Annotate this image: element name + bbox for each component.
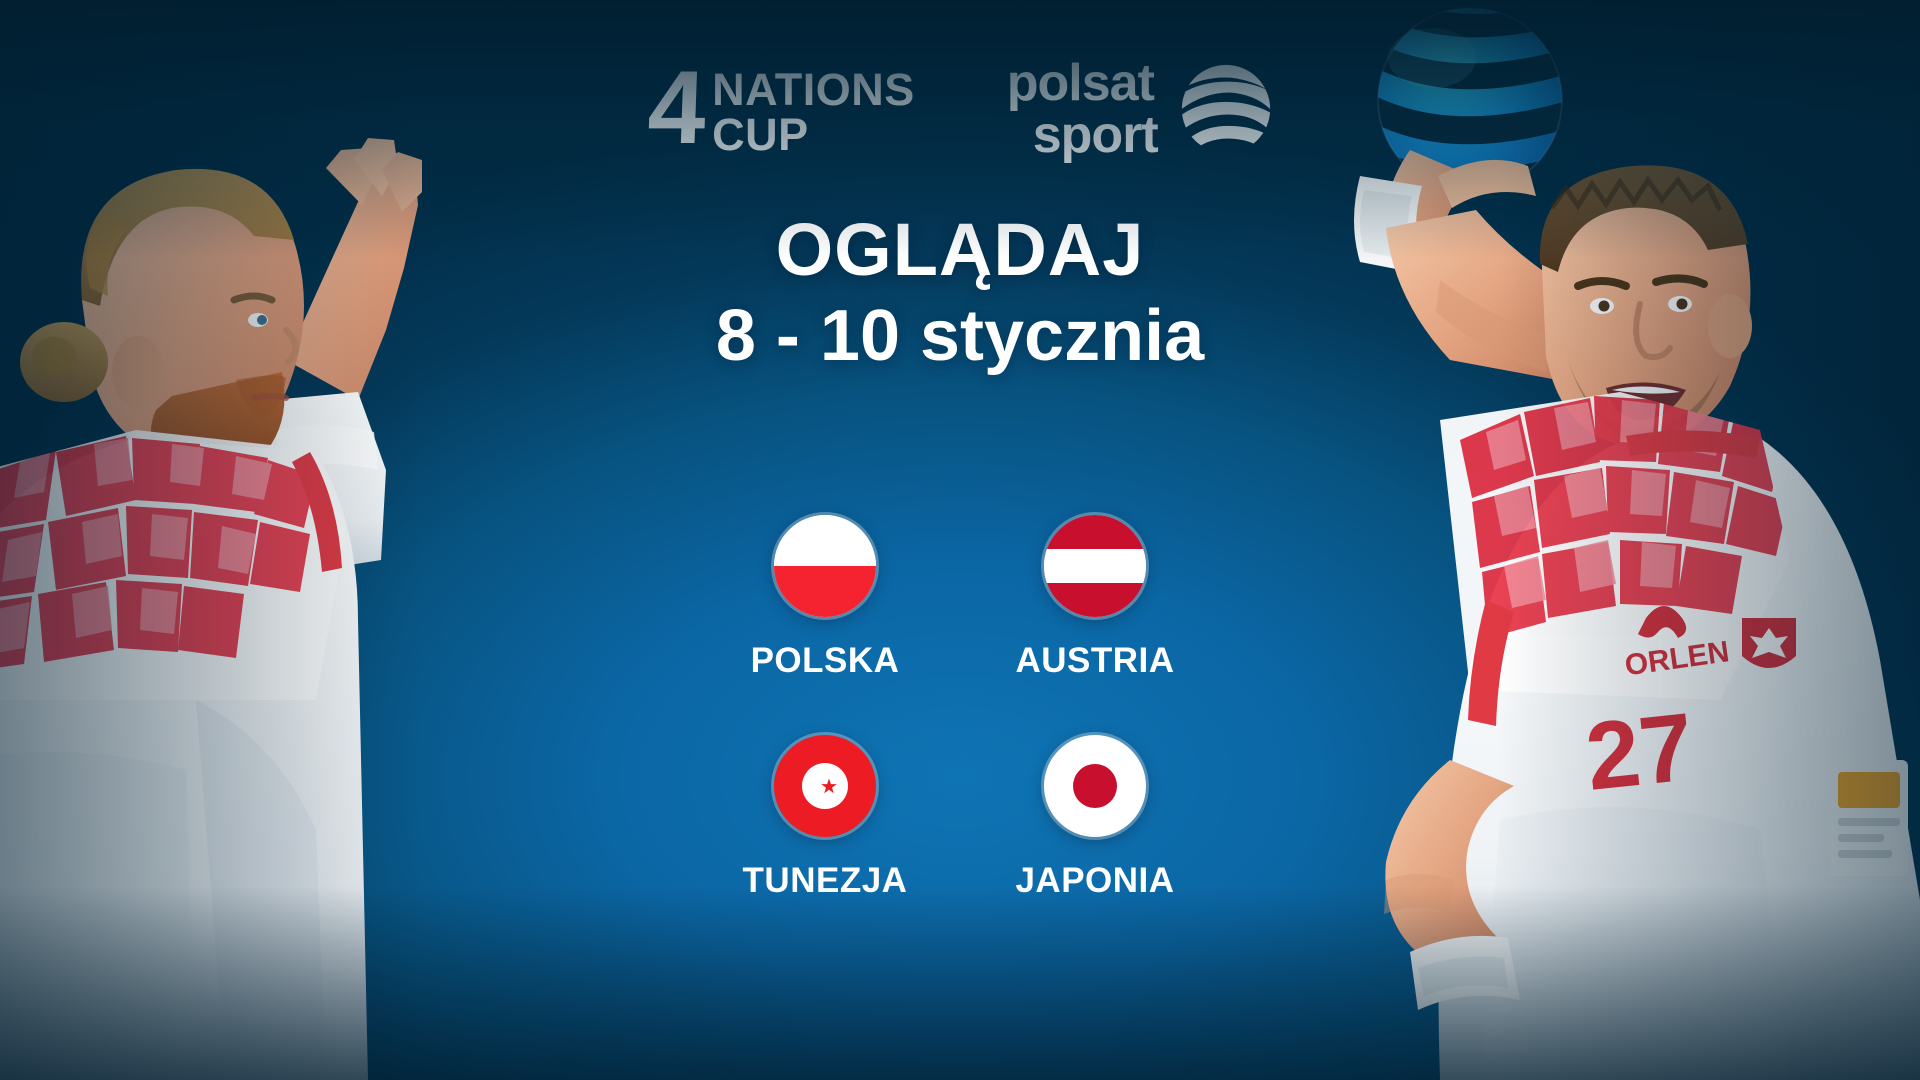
flag-austria-icon bbox=[1044, 515, 1146, 617]
team-poland: POLSKA bbox=[751, 515, 900, 681]
flag-japan-icon bbox=[1044, 735, 1146, 837]
flag-band-red-bottom bbox=[1044, 583, 1146, 617]
four-nations-cup-logo: 4 NATIONS CUP bbox=[648, 62, 915, 156]
svg-text:27: 27 bbox=[1581, 693, 1698, 811]
team-tunisia: TUNEZJA bbox=[743, 735, 908, 901]
team-label-poland: POLSKA bbox=[751, 641, 900, 681]
sport-wordmark: sport bbox=[1007, 109, 1158, 161]
cup-logo-cup: CUP bbox=[712, 112, 915, 157]
team-austria: AUSTRIA bbox=[1015, 515, 1174, 681]
polsat-sport-logo: polsat sport bbox=[1007, 58, 1272, 161]
player-left-image bbox=[0, 0, 546, 1080]
page-title: OGLĄDAJ bbox=[0, 212, 1920, 287]
cup-logo-nations: NATIONS bbox=[712, 68, 915, 111]
player-right-image: ORLEN 27 bbox=[1290, 0, 1920, 1080]
teams-grid: POLSKA AUSTRIA TUNEZJA bbox=[690, 515, 1230, 901]
team-japan: JAPONIA bbox=[1015, 735, 1174, 901]
headline-block: OGLĄDAJ 8 - 10 stycznia bbox=[0, 212, 1920, 379]
flag-tunisia-icon bbox=[774, 735, 876, 837]
team-label-austria: AUSTRIA bbox=[1015, 641, 1174, 681]
flag-band-red-top bbox=[1044, 515, 1146, 549]
cup-logo-numeral: 4 bbox=[647, 62, 704, 156]
team-label-tunisia: TUNEZJA bbox=[743, 861, 908, 901]
flag-band-white bbox=[774, 515, 876, 566]
svg-text:ORLEN: ORLEN bbox=[1623, 635, 1732, 682]
flag-red-disc bbox=[1073, 764, 1117, 808]
flag-band-white-mid bbox=[1044, 549, 1146, 583]
broadcast-dates: 8 - 10 stycznia bbox=[0, 295, 1920, 379]
crescent-star-icon bbox=[808, 769, 842, 803]
header-logos: 4 NATIONS CUP polsat sport bbox=[0, 58, 1920, 161]
polsat-globe-icon bbox=[1180, 63, 1272, 155]
promo-banner: ORLEN 27 4 bbox=[0, 0, 1920, 1080]
flag-poland-icon bbox=[774, 515, 876, 617]
flag-band-red bbox=[774, 566, 876, 617]
team-label-japan: JAPONIA bbox=[1015, 861, 1174, 901]
polsat-wordmark: polsat bbox=[1007, 58, 1154, 109]
